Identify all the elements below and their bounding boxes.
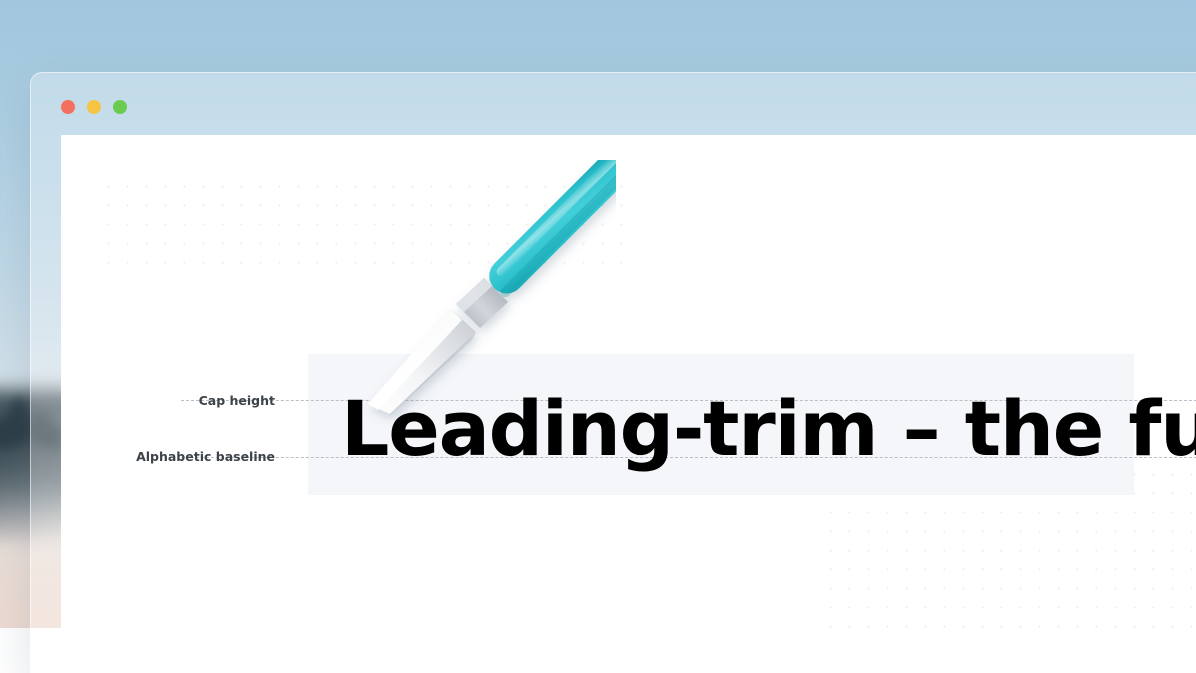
window-controls (61, 100, 127, 114)
maximize-button[interactable] (113, 100, 127, 114)
tree-silhouette (0, 418, 22, 448)
minimize-button[interactable] (87, 100, 101, 114)
cap-height-label: Cap height (199, 393, 275, 408)
alphabetic-baseline-label: Alphabetic baseline (136, 449, 275, 464)
tree-silhouette (6, 398, 32, 440)
window-titlebar[interactable] (31, 73, 1196, 135)
canvas-viewport[interactable]: Cap height Alphabetic baseline Leading-t… (61, 135, 1196, 673)
close-button[interactable] (61, 100, 75, 114)
dot-grid-pattern (99, 177, 639, 281)
headline-text[interactable]: Leading-trim – the future (341, 391, 1196, 467)
application-window: Cap height Alphabetic baseline Leading-t… (30, 72, 1196, 673)
